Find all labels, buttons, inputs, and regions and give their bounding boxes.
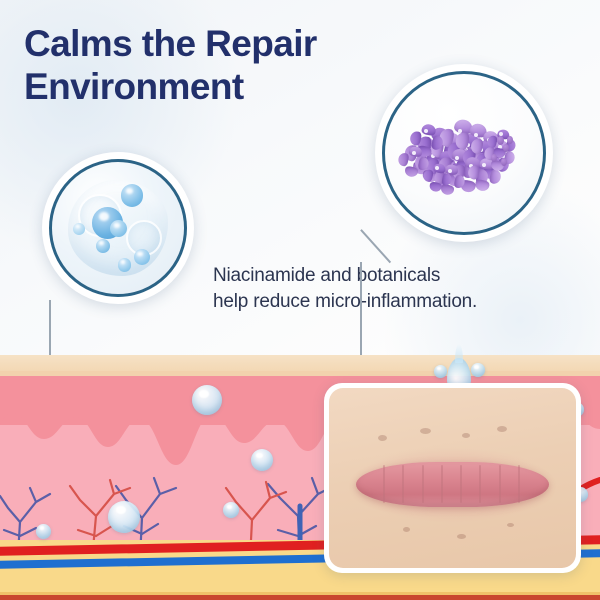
serum-droplet	[471, 363, 485, 377]
lilac-floret	[407, 146, 420, 159]
water-bead	[96, 239, 111, 254]
lilac-floret	[431, 162, 443, 174]
skin-spot	[497, 426, 507, 432]
lilac-botanical-image	[385, 74, 543, 232]
serum-droplet	[223, 502, 239, 518]
skin-spot	[457, 534, 466, 539]
water-bead	[73, 223, 85, 235]
lilac-floret	[419, 124, 433, 138]
headline-line-2: Environment	[24, 65, 444, 108]
serum-droplet	[192, 385, 222, 415]
base-strip	[0, 595, 600, 600]
irritated-skin-photo	[324, 383, 581, 573]
body-copy-line-2: help reduce micro-inflammation.	[213, 289, 563, 315]
skin-spot	[420, 428, 431, 434]
lilac-bud	[507, 136, 513, 144]
photo-frame	[329, 388, 576, 568]
lilac-bud	[503, 144, 509, 152]
water-bead	[134, 249, 150, 265]
serum-droplet	[36, 524, 51, 539]
leader-line-right-vertical	[360, 262, 362, 370]
serum-droplet	[108, 501, 140, 533]
body-copy-line-1: Niacinamide and botanicals	[213, 263, 563, 289]
leader-line-right-diagonal	[360, 229, 391, 263]
lilac-flower-cluster	[385, 74, 543, 232]
skin-spot	[462, 433, 470, 438]
promo-poster: Calms the Repair Environment Niacinamide…	[0, 0, 600, 600]
lilac-bud	[497, 136, 504, 145]
layer-stratum-corneum	[0, 355, 600, 371]
lilac-botanical-circle	[375, 64, 553, 242]
headline-line-1: Calms the Repair	[24, 23, 317, 64]
lilac-bud	[491, 154, 497, 162]
skin-spot	[378, 435, 387, 441]
body-copy: Niacinamide and botanicals help reduce m…	[213, 263, 563, 315]
water-bead	[121, 184, 143, 206]
hydration-beads-circle	[42, 152, 194, 304]
water-bead	[118, 258, 131, 271]
skin-spot	[403, 527, 410, 532]
serum-droplet	[434, 365, 447, 378]
hydration-beads-image	[52, 162, 184, 294]
skin-spot	[507, 523, 514, 527]
lilac-bud	[501, 158, 507, 166]
scar-lesion	[356, 462, 549, 507]
serum-droplet	[251, 449, 273, 471]
page-title: Calms the Repair Environment	[24, 22, 444, 109]
